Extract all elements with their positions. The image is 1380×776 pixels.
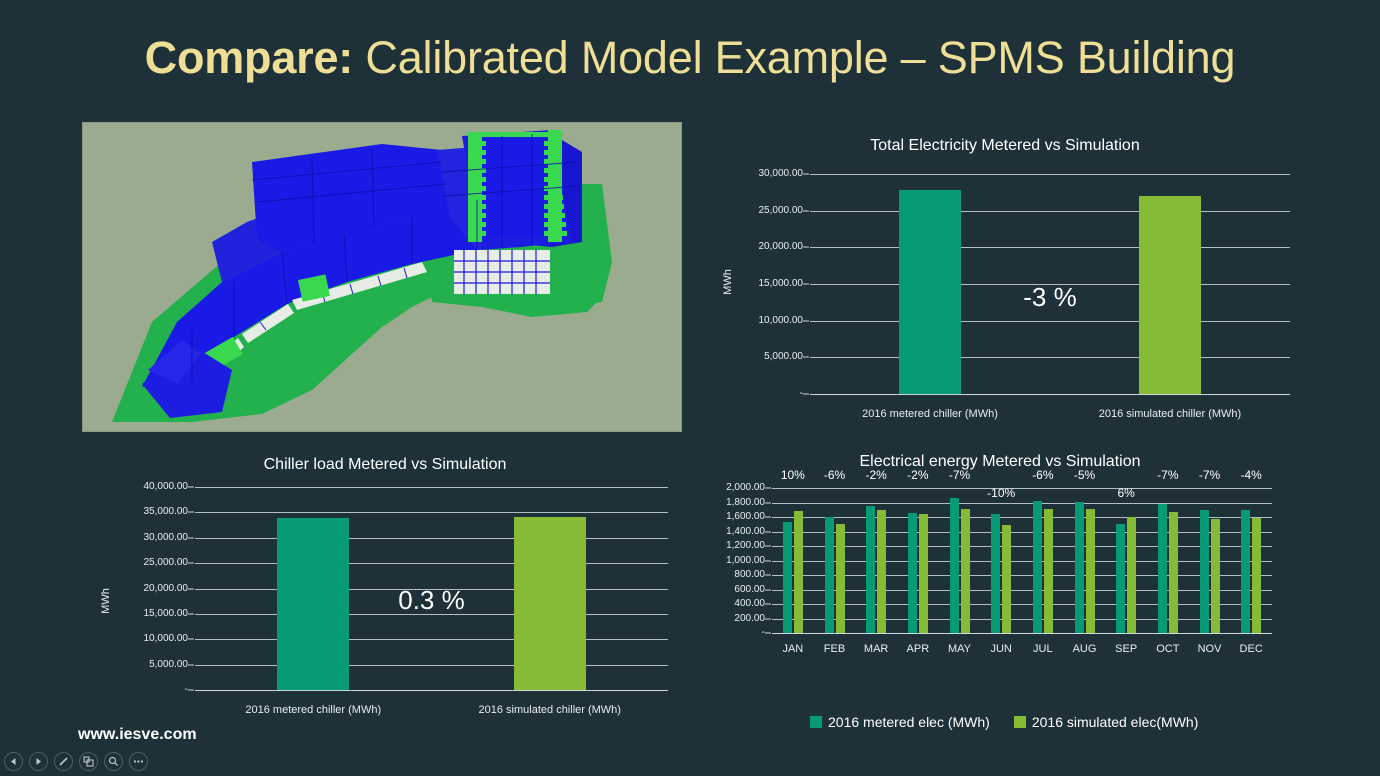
y-axis-tick-label: 1,400.00 bbox=[726, 527, 765, 537]
y-axis-tick-mark bbox=[765, 575, 771, 576]
previous-slide-button[interactable] bbox=[4, 752, 23, 771]
y-axis-tick-label: 200.00 bbox=[734, 614, 765, 624]
bar bbox=[919, 514, 928, 633]
legend-swatch bbox=[1014, 716, 1026, 728]
x-axis-line bbox=[195, 690, 668, 691]
y-axis-tick-label: 15,000.00 bbox=[144, 609, 189, 619]
legend-label: 2016 simulated elec(MWh) bbox=[1032, 714, 1199, 730]
gridline bbox=[195, 639, 668, 640]
plot-area: -5,000.0010,000.0015,000.0020,000.0025,0… bbox=[195, 487, 668, 690]
bar bbox=[1169, 512, 1178, 633]
y-axis-label: MWh bbox=[100, 571, 112, 631]
y-axis-tick-label: 15,000.00 bbox=[759, 279, 804, 289]
percentage-difference-label: 10% bbox=[781, 468, 805, 482]
y-axis-tick-label: - bbox=[800, 389, 803, 399]
gridline bbox=[772, 488, 1272, 489]
bar bbox=[899, 190, 961, 394]
x-axis-line bbox=[772, 633, 1272, 634]
zoom-tool-button[interactable] bbox=[104, 752, 123, 771]
y-axis-tick-mark bbox=[188, 664, 194, 665]
x-axis-line bbox=[810, 394, 1290, 395]
bar bbox=[1002, 525, 1011, 633]
bar bbox=[908, 513, 917, 633]
x-axis-month-label: OCT bbox=[1156, 643, 1179, 655]
bar bbox=[950, 498, 959, 633]
bar bbox=[1044, 509, 1053, 633]
chart-title: Chiller load Metered vs Simulation bbox=[90, 455, 680, 475]
y-axis-tick-mark bbox=[803, 174, 809, 175]
gridline bbox=[810, 247, 1290, 248]
percentage-difference-label: -2% bbox=[907, 468, 928, 482]
delta-percentage-annotation: -3 % bbox=[1023, 282, 1076, 313]
y-axis-tick-label: 1,800.00 bbox=[726, 498, 765, 508]
slide-thumbnails-button[interactable] bbox=[79, 752, 98, 771]
gridline bbox=[195, 665, 668, 666]
gridline bbox=[195, 563, 668, 564]
slide: Compare: Calibrated Model Example – SPMS… bbox=[0, 0, 1380, 776]
y-axis-tick-label: 10,000.00 bbox=[759, 316, 804, 326]
y-axis-tick-label: - bbox=[185, 685, 188, 695]
percentage-difference-label: -5% bbox=[1074, 468, 1095, 482]
bar bbox=[1116, 524, 1125, 633]
title-bold-part: Compare: bbox=[145, 32, 353, 83]
bar bbox=[1200, 510, 1209, 633]
y-axis-tick-label: 10,000.00 bbox=[144, 634, 189, 644]
y-axis-tick-mark bbox=[188, 588, 194, 589]
y-axis-tick-mark bbox=[765, 604, 771, 605]
title-rest-part: Calibrated Model Example – SPMS Building bbox=[353, 32, 1235, 83]
plot-area: -5,000.0010,000.0015,000.0020,000.0025,0… bbox=[810, 174, 1290, 394]
y-axis-tick-mark bbox=[188, 563, 194, 564]
gridline bbox=[772, 604, 1272, 605]
y-axis-tick-label: 40,000.00 bbox=[144, 482, 189, 492]
x-axis-month-label: NOV bbox=[1198, 643, 1222, 655]
y-axis-tick-mark bbox=[765, 633, 771, 634]
y-axis-tick-mark bbox=[765, 517, 771, 518]
y-axis-tick-label: 600.00 bbox=[734, 585, 765, 595]
y-axis-tick-mark bbox=[188, 537, 194, 538]
x-axis-month-label: JUN bbox=[990, 643, 1011, 655]
plot-area: -200.00400.00600.00800.001,000.001,200.0… bbox=[772, 488, 1272, 633]
x-axis-month-label: MAR bbox=[864, 643, 888, 655]
y-axis-tick-mark bbox=[188, 639, 194, 640]
bar bbox=[1211, 519, 1220, 633]
y-axis-tick-label: 30,000.00 bbox=[144, 533, 189, 543]
gridline bbox=[195, 512, 668, 513]
x-axis-month-label: JAN bbox=[782, 643, 803, 655]
more-options-button[interactable] bbox=[129, 752, 148, 771]
bar bbox=[1158, 504, 1167, 633]
y-axis-tick-mark bbox=[765, 618, 771, 619]
x-axis-category-label: 2016 metered chiller (MWh) bbox=[245, 704, 381, 716]
gridline bbox=[195, 538, 668, 539]
percentage-difference-label: -6% bbox=[1032, 468, 1053, 482]
bar bbox=[1075, 502, 1084, 633]
gridline bbox=[772, 517, 1272, 518]
percentage-difference-label: 6% bbox=[1117, 486, 1134, 500]
y-axis-tick-label: 20,000.00 bbox=[759, 242, 804, 252]
y-axis-tick-mark bbox=[188, 487, 194, 488]
bar bbox=[1252, 518, 1261, 633]
bar bbox=[783, 522, 792, 633]
y-axis-tick-label: 5,000.00 bbox=[764, 352, 803, 362]
y-axis-tick-mark bbox=[803, 210, 809, 211]
bar bbox=[514, 517, 586, 690]
y-axis-tick-label: 35,000.00 bbox=[144, 507, 189, 517]
presentation-toolbar bbox=[4, 752, 148, 771]
x-axis-category-label: 2016 simulated chiller (MWh) bbox=[479, 704, 621, 716]
next-slide-button[interactable] bbox=[29, 752, 48, 771]
y-axis-tick-label: - bbox=[762, 628, 765, 638]
legend-swatch bbox=[810, 716, 822, 728]
bar bbox=[866, 506, 875, 633]
bar bbox=[1127, 517, 1136, 633]
gridline bbox=[195, 487, 668, 488]
chart-legend: 2016 metered elec (MWh)2016 simulated el… bbox=[810, 714, 1198, 730]
gridline bbox=[810, 321, 1290, 322]
x-axis-month-label: FEB bbox=[824, 643, 845, 655]
x-axis-category-label: 2016 simulated chiller (MWh) bbox=[1099, 408, 1241, 420]
gridline bbox=[810, 174, 1290, 175]
bar bbox=[991, 514, 1000, 633]
gridline bbox=[772, 575, 1272, 576]
legend-item: 2016 metered elec (MWh) bbox=[810, 714, 990, 730]
y-axis-tick-mark bbox=[765, 546, 771, 547]
building-model-image bbox=[82, 122, 682, 432]
pen-tool-button[interactable] bbox=[54, 752, 73, 771]
y-axis-tick-label: 25,000.00 bbox=[759, 206, 804, 216]
y-axis-tick-mark bbox=[765, 502, 771, 503]
chart-electrical-energy-monthly: Electrical energy Metered vs Simulation … bbox=[690, 452, 1310, 742]
percentage-difference-label: -6% bbox=[824, 468, 845, 482]
y-axis-tick-mark bbox=[765, 531, 771, 532]
legend-label: 2016 metered elec (MWh) bbox=[828, 714, 990, 730]
bar bbox=[794, 511, 803, 633]
percentage-difference-label: -7% bbox=[1199, 468, 1220, 482]
y-axis-tick-label: 20,000.00 bbox=[144, 584, 189, 594]
gridline bbox=[810, 211, 1290, 212]
y-axis-tick-label: 25,000.00 bbox=[144, 558, 189, 568]
bar bbox=[1086, 509, 1095, 633]
chart-chiller-load: Chiller load Metered vs Simulation MWh -… bbox=[90, 455, 680, 745]
y-axis-tick-label: 30,000.00 bbox=[759, 169, 804, 179]
bar bbox=[1139, 196, 1201, 394]
y-axis-tick-mark bbox=[765, 488, 771, 489]
x-axis-category-label: 2016 metered chiller (MWh) bbox=[862, 408, 998, 420]
y-axis-tick-label: 2,000.00 bbox=[726, 483, 765, 493]
y-axis-tick-mark bbox=[765, 560, 771, 561]
x-axis-month-label: JUL bbox=[1033, 643, 1053, 655]
gridline bbox=[772, 561, 1272, 562]
legend-item: 2016 simulated elec(MWh) bbox=[1014, 714, 1199, 730]
percentage-difference-label: -4% bbox=[1240, 468, 1261, 482]
percentage-difference-label: -7% bbox=[949, 468, 970, 482]
chart-title: Total Electricity Metered vs Simulation bbox=[710, 136, 1300, 156]
gridline bbox=[772, 619, 1272, 620]
bar bbox=[1241, 510, 1250, 633]
delta-percentage-annotation: 0.3 % bbox=[398, 585, 465, 616]
building-model-svg bbox=[82, 122, 682, 432]
percentage-difference-label: -10% bbox=[987, 486, 1015, 500]
gridline bbox=[772, 503, 1272, 504]
y-axis-tick-mark bbox=[803, 320, 809, 321]
y-axis-tick-mark bbox=[803, 247, 809, 248]
gridline bbox=[772, 532, 1272, 533]
x-axis-month-label: MAY bbox=[948, 643, 971, 655]
bar bbox=[825, 517, 834, 633]
bar bbox=[1033, 501, 1042, 633]
y-axis-tick-label: 1,600.00 bbox=[726, 512, 765, 522]
y-axis-tick-mark bbox=[188, 512, 194, 513]
chart-total-electricity: Total Electricity Metered vs Simulation … bbox=[710, 136, 1300, 436]
gridline bbox=[810, 357, 1290, 358]
gridline bbox=[772, 590, 1272, 591]
y-axis-tick-label: 1,200.00 bbox=[726, 541, 765, 551]
y-axis-tick-mark bbox=[765, 589, 771, 590]
x-axis-month-label: AUG bbox=[1073, 643, 1097, 655]
x-axis-month-label: SEP bbox=[1115, 643, 1137, 655]
y-axis-tick-mark bbox=[188, 690, 194, 691]
y-axis-tick-label: 400.00 bbox=[734, 599, 765, 609]
bar bbox=[961, 509, 970, 633]
y-axis-tick-label: 5,000.00 bbox=[149, 660, 188, 670]
y-axis-tick-mark bbox=[803, 394, 809, 395]
footer-url: www.iesve.com bbox=[78, 726, 197, 744]
x-axis-month-label: DEC bbox=[1240, 643, 1263, 655]
atrium-glazing-grid bbox=[454, 250, 550, 294]
page-title: Compare: Calibrated Model Example – SPMS… bbox=[0, 28, 1380, 88]
gridline bbox=[772, 546, 1272, 547]
percentage-difference-label: -2% bbox=[865, 468, 886, 482]
y-axis-label: MWh bbox=[722, 252, 734, 312]
x-axis-month-label: APR bbox=[907, 643, 930, 655]
y-axis-tick-mark bbox=[803, 284, 809, 285]
y-axis-tick-mark bbox=[188, 613, 194, 614]
y-axis-tick-label: 800.00 bbox=[734, 570, 765, 580]
y-axis-tick-label: 1,000.00 bbox=[726, 556, 765, 566]
percentage-difference-label: -7% bbox=[1157, 468, 1178, 482]
bar bbox=[277, 518, 349, 690]
ne-wing-core bbox=[486, 140, 544, 236]
bar bbox=[836, 524, 845, 633]
bar bbox=[877, 510, 886, 633]
y-axis-tick-mark bbox=[803, 357, 809, 358]
